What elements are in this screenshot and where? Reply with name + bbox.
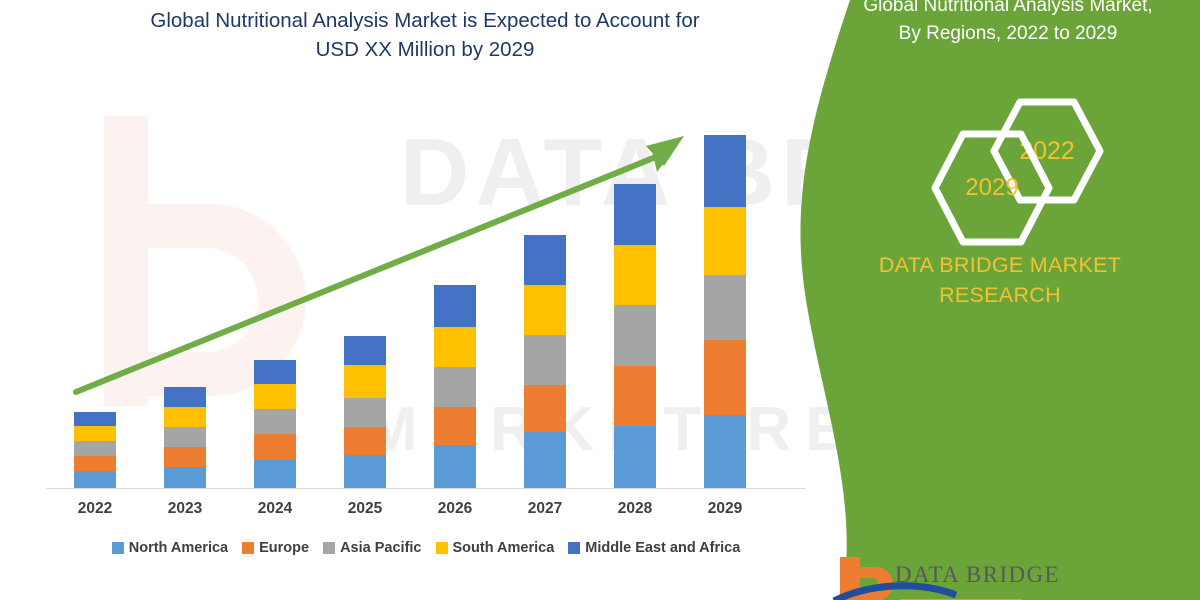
x-axis-tick-label: 2027: [500, 500, 590, 518]
brand-title-line-1: Global Nutritional Analysis Market,: [828, 0, 1188, 20]
legend-swatch-icon: [323, 542, 335, 554]
x-axis-tick-label: 2024: [230, 500, 320, 518]
bar-segment: [614, 366, 656, 426]
bar-segment: [254, 360, 296, 384]
bar-segment: [434, 285, 476, 327]
bar-segment: [704, 340, 746, 415]
bar-2028: [614, 184, 656, 488]
x-axis-tick-label: 2028: [590, 500, 680, 518]
brand-panel: Global Nutritional Analysis Market, By R…: [790, 0, 1200, 600]
bar-segment: [254, 409, 296, 434]
bar-segment: [344, 398, 386, 427]
bar-segment: [704, 207, 746, 275]
bar-segment: [344, 365, 386, 398]
legend-label: North America: [129, 540, 228, 556]
plot-area: 20222023202420252026202720282029: [0, 0, 840, 600]
legend-swatch-icon: [436, 542, 448, 554]
legend-swatch-icon: [112, 542, 124, 554]
bar-2024: [254, 360, 296, 488]
brand-name-line-2: RESEARCH: [835, 280, 1165, 310]
bar-segment: [164, 447, 206, 467]
x-axis-tick-label: 2023: [140, 500, 230, 518]
axis-baseline: [46, 488, 806, 489]
bar-segment: [704, 415, 746, 488]
legend-item[interactable]: South America: [436, 540, 555, 556]
legend-item[interactable]: Europe: [242, 540, 309, 556]
legend-label: South America: [453, 540, 555, 556]
bar-segment: [74, 412, 116, 426]
bar-segment: [344, 455, 386, 488]
hexagon-label-2029: 2029: [930, 129, 1054, 247]
bar-segment: [524, 285, 566, 335]
bar-segment: [614, 184, 656, 245]
bar-segment: [254, 434, 296, 460]
legend-label: Middle East and Africa: [585, 540, 740, 556]
bar-2025: [344, 336, 386, 488]
logo-text: DATA BRIDGE: [895, 562, 1060, 588]
bar-segment: [254, 384, 296, 409]
legend-label: Asia Pacific: [340, 540, 421, 556]
legend-item[interactable]: Middle East and Africa: [568, 540, 740, 556]
chart-panel: DATA BRIDGE MARKET RESEARCH Global Nutri…: [0, 0, 840, 600]
brand-title-line-2: By Regions, 2022 to 2029: [828, 20, 1188, 48]
bar-segment: [524, 335, 566, 385]
bar-segment: [164, 427, 206, 447]
bar-segment: [524, 235, 566, 285]
x-axis-tick-label: 2026: [410, 500, 500, 518]
bar-segment: [434, 367, 476, 407]
legend-label: Europe: [259, 540, 309, 556]
bar-segment: [524, 432, 566, 488]
bar-segment: [344, 427, 386, 455]
brand-panel-title: Global Nutritional Analysis Market, By R…: [828, 0, 1188, 48]
x-axis-tick-label: 2029: [680, 500, 770, 518]
bar-segment: [704, 275, 746, 340]
bar-2027: [524, 235, 566, 488]
bar-segment: [524, 385, 566, 432]
bar-segment: [614, 305, 656, 366]
bar-segment: [74, 456, 116, 471]
legend-item[interactable]: North America: [112, 540, 228, 556]
bar-segment: [164, 467, 206, 488]
bar-2023: [164, 387, 206, 488]
x-axis-tick-label: 2022: [50, 500, 140, 518]
brand-name: DATA BRIDGE MARKET RESEARCH: [835, 250, 1165, 310]
brand-name-line-1: DATA BRIDGE MARKET: [835, 250, 1165, 280]
legend-item[interactable]: Asia Pacific: [323, 540, 421, 556]
bar-segment: [434, 327, 476, 367]
bar-segment: [704, 135, 746, 207]
bar-segment: [344, 336, 386, 365]
bar-segment: [614, 426, 656, 488]
bar-2022: [74, 412, 116, 488]
bar-segment: [74, 471, 116, 488]
bar-segment: [74, 441, 116, 456]
bar-segment: [254, 460, 296, 488]
bar-segment: [434, 407, 476, 445]
bar-segment: [164, 387, 206, 407]
x-axis-tick-label: 2025: [320, 500, 410, 518]
hexagon-badge-2029: 2029: [930, 129, 1054, 247]
bar-segment: [74, 426, 116, 441]
infographic-canvas: DATA BRIDGE MARKET RESEARCH Global Nutri…: [0, 0, 1200, 600]
chart-legend: North AmericaEuropeAsia PacificSouth Ame…: [46, 540, 806, 556]
bar-segment: [614, 245, 656, 305]
bar-2029: [704, 135, 746, 488]
legend-swatch-icon: [568, 542, 580, 554]
bar-2026: [434, 285, 476, 488]
bar-segment: [164, 407, 206, 427]
legend-swatch-icon: [242, 542, 254, 554]
bar-segment: [434, 445, 476, 488]
